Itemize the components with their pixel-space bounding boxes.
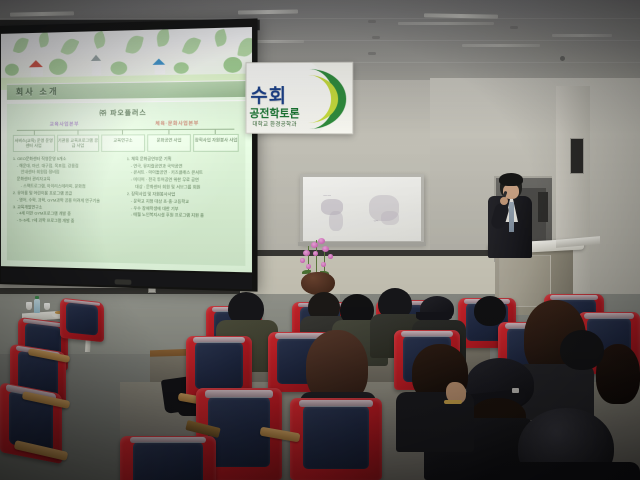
slide-body: ㈜ 파오플러스 교육사업본부 체육·문화사업본부 서비스(교육) 운영 운영센터…: [7, 100, 245, 266]
ceiling-light-icon: [462, 44, 540, 47]
seat[interactable]: [60, 298, 104, 343]
org-box: 기관용 교육프로그램 공급 사업: [57, 135, 100, 152]
whiteboard: ~~ ∽: [300, 174, 424, 244]
seat[interactable]: [120, 436, 216, 480]
screen-pull-handle[interactable]: [115, 279, 132, 285]
wall-lower-panel: [228, 256, 518, 296]
wall-speaker-icon: [538, 192, 548, 222]
slide-subtitle: ㈜ 파오플러스: [13, 105, 239, 117]
org-dept-row: 교육사업본부 체육·문화사업본부: [13, 120, 239, 128]
bracelet: [444, 400, 462, 404]
house-icon: [92, 60, 101, 76]
ceiling-light-icon: [10, 11, 74, 16]
slide-title-bar: 회사 소개: [7, 80, 245, 100]
wall-speaker-icon: [570, 138, 584, 174]
torso: [500, 462, 640, 480]
head: [560, 330, 604, 370]
paper-cup: [44, 303, 50, 310]
org-box: 서비스(교육) 운영 운영센터 사업: [13, 135, 55, 152]
head: [474, 296, 506, 326]
org-box: 장학사업 자원봉사 사업: [193, 134, 238, 152]
cap-logo-icon: [512, 388, 519, 393]
banner-line-3: 대학교 환경공학과: [252, 120, 296, 128]
green-wall-banner: 수회 공전학토론 대학교 환경공학과: [246, 62, 354, 135]
org-box: 교육연구소: [101, 134, 144, 151]
house-icon: [31, 65, 43, 76]
water-bottle: [34, 299, 40, 313]
presenter-hair: [499, 173, 523, 186]
banner-line-2: 공전학토론: [249, 105, 299, 121]
auditorium-photo: 회사 소개 ㈜ 파오플러스 교육사업본부 체육·문화사업본부 서비스(교육) 운…: [0, 0, 640, 480]
flower-pot: [301, 272, 335, 295]
slide-right-column: 1. 체육 문화공연부문 기획 - 연극, 뮤지컬공연과 국악공연 - 콘서트 …: [127, 156, 239, 228]
ceiling-light-icon: [398, 22, 494, 25]
bullet: 1. GEO문화센터 직영운영 5개소: [13, 156, 119, 163]
slide-title: 회사 소개: [7, 86, 59, 98]
bullet: - 5~6세, 7세 과학 프로그램 개발 중: [13, 217, 119, 226]
projection-screen: 회사 소개 ㈜ 파오플러스 교육사업본부 체육·문화사업본부 서비스(교육) 운…: [0, 18, 258, 291]
banner-line-1: 수회: [250, 81, 287, 108]
house-icon: [155, 64, 166, 75]
presenter-tie: [509, 202, 514, 232]
paper-cup: [26, 302, 32, 310]
seat[interactable]: [290, 398, 382, 480]
ceiling-light-icon: [238, 9, 298, 14]
org-chart-boxes: 서비스(교육) 운영 운영센터 사업 기관용 교육프로그램 공급 사업 교육연구…: [13, 134, 239, 152]
org-box: 문화공연 사업: [147, 134, 191, 152]
bullet: - 매월 노인복지시설 후원 프로그램 지원 중: [127, 212, 239, 221]
presenter-hand: [500, 197, 508, 205]
dept-heading: 체육·문화사업본부: [155, 120, 199, 127]
ceiling-light-icon: [552, 34, 612, 37]
slide-left-column: 1. GEO문화센터 직영운영 5개소 - 해운대, 마산, 대구점, 목포점,…: [13, 156, 119, 226]
presentation-slide: 회사 소개 ㈜ 파오플러스 교육사업본부 체육·문화사업본부 서비스(교육) 운…: [1, 27, 252, 272]
dept-heading: 교육사업본부: [50, 121, 80, 127]
